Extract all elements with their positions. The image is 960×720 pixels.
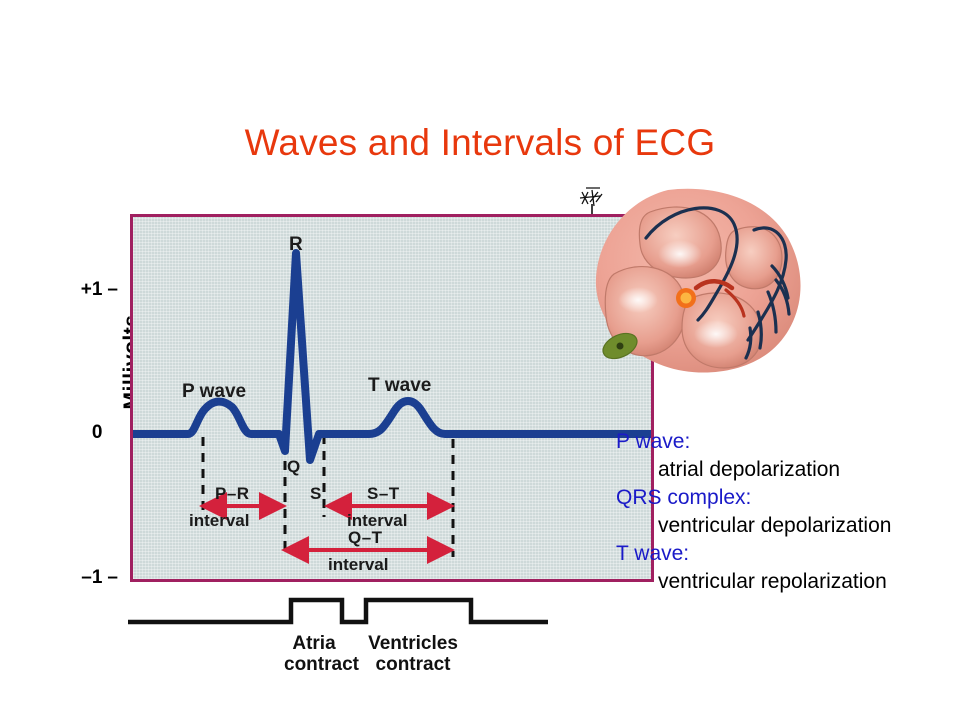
y-tick-minus-one: –1– [44,567,118,589]
legend-definition-t-wave: ventricular repolarization [616,568,956,596]
legend-definition-qrs-complex: ventricular depolarization [616,512,956,540]
t-wave-label: T wave [368,375,431,397]
y-tick-plus-one: +1– [44,279,118,301]
atria-contract-line2: contract [284,655,344,676]
ventricles-contract-label: Ventricles contract [353,634,473,675]
ecg-plot-inner: P wave R T wave Q S P–R interval S–T int… [133,217,651,579]
qt-interval-label: Q–T [348,528,383,548]
p-wave-label: P wave [182,381,246,403]
heart-conduction-system-image [576,182,818,382]
page-title: Waves and Intervals of ECG [0,122,960,164]
legend-term-t-wave: T wave: [616,540,956,568]
pr-interval-label: P–R [215,484,250,504]
qt-interval-word: interval [328,555,388,575]
contraction-timing-diagram: Atria contract Ventricles contract [122,588,600,680]
y-tick-plus-one-text: +1 [81,279,103,300]
vessel-lumen [617,343,624,350]
y-tick-minus-one-text: –1 [81,567,102,588]
q-label: Q [287,457,300,477]
y-tick-zero-text: 0 [92,422,103,443]
heart-illustration-svg [576,182,818,382]
legend-definition-p-wave: atrial depolarization [616,456,956,484]
pr-interval-word: interval [189,511,249,531]
atria-contract-label: Atria contract [284,634,344,675]
highlight [618,287,658,313]
sa-node-core [681,293,692,304]
y-tick-dash-icon: – [107,279,118,301]
y-tick-dash-icon: – [107,567,118,589]
ventricles-contract-line2: contract [353,655,473,676]
legend-term-p-wave: P wave: [616,428,956,456]
s-label: S [310,484,321,504]
st-interval-label: S–T [367,484,400,504]
scribble-marker-icon [580,188,602,214]
atria-contract-line1: Atria [284,634,344,655]
ecg-wave-legend: P wave: atrial depolarization QRS comple… [616,428,956,596]
ventricles-contract-line1: Ventricles [353,634,473,655]
contraction-pulse-svg [128,590,548,632]
y-tick-zero: 0– [44,422,118,444]
highlight [658,240,702,268]
r-peak-label: R [289,234,303,256]
contraction-pulse-path [128,600,548,622]
highlight [694,320,738,348]
ecg-figure: Millivolts +1– 0– –1– [60,200,600,680]
legend-term-qrs-complex: QRS complex: [616,484,956,512]
